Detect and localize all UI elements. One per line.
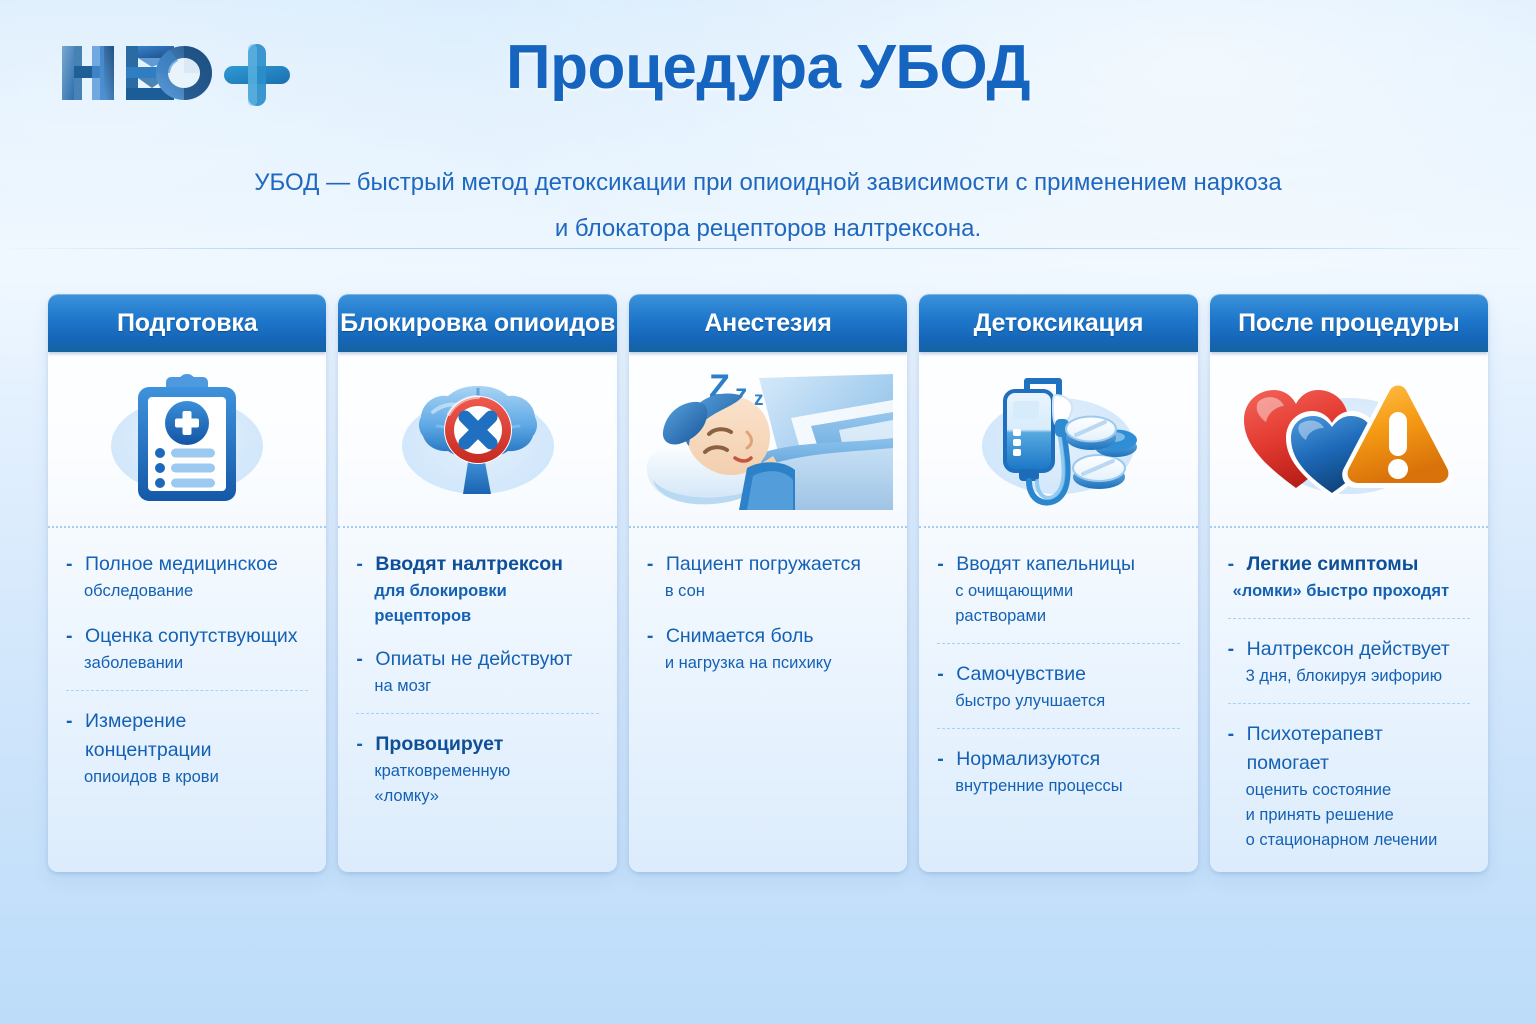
bullet-main-text: Самочувствие <box>956 660 1179 689</box>
bullet-main-text: Нормализуются <box>956 745 1179 774</box>
stage-card-preparation[interactable]: Подготовка <box>48 294 326 872</box>
bullet-item: - Нормализуются внутренние процессы <box>937 745 1179 799</box>
bullet-item: - Пациент погружается в сон <box>647 550 889 604</box>
bullet-dash: - <box>937 745 944 774</box>
card-divider-detoxification <box>919 526 1197 528</box>
card-divider-after-procedure <box>1210 526 1488 528</box>
card-title-anesthesia: Анестезия <box>704 309 831 338</box>
bullet-dash: - <box>66 550 73 579</box>
page-title: Процедура УБОД <box>0 32 1536 103</box>
poster-header: Процедура УБОД УБОД — быстрый метод дето… <box>0 0 1536 262</box>
card-title-after-procedure: После процедуры <box>1238 309 1460 338</box>
stage-card-opioid-blocking[interactable]: Блокировка опиоидов <box>338 294 616 872</box>
card-divider-opioid-blocking <box>338 526 616 528</box>
bullet-dash: - <box>937 660 944 689</box>
card-title-detoxification: Детоксикация <box>974 309 1144 338</box>
stage-card-after-procedure[interactable]: После процедуры <box>1210 294 1488 872</box>
bullet-sub-text: для блокировки рецепторов <box>374 579 598 629</box>
bullet-item: - Вводят капельницы с очищающими раствор… <box>937 550 1179 629</box>
bullet-group: - Вводят налтрексон для блокировки рецеп… <box>356 550 598 699</box>
bullet-item: - Измерение концентрации опиоидов в кров… <box>66 707 308 790</box>
card-header-preparation: Подготовка <box>48 294 326 352</box>
bullet-main-text: Оценка сопутствующих <box>85 622 308 651</box>
bullet-dash: - <box>1228 550 1235 579</box>
brain-blocked-icon <box>403 374 553 504</box>
bullet-dash: - <box>647 550 654 579</box>
card-icon-opioid-blocking <box>338 352 616 526</box>
card-header-detoxification: Детоксикация <box>919 294 1197 352</box>
card-title-preparation: Подготовка <box>117 309 257 338</box>
card-icon-detoxification <box>919 352 1197 526</box>
bullet-item: - Налтрексон действует 3 дня, блокируя э… <box>1228 635 1470 689</box>
card-body-preparation: - Полное медицинское обследование - Оцен… <box>48 528 326 872</box>
bullet-sub-text: «ломки» быстро проходят <box>1233 579 1470 604</box>
bullet-dash: - <box>66 622 73 651</box>
bullet-group: - Вводят капельницы с очищающими раствор… <box>937 550 1179 629</box>
bullet-group: - Психотерапевт помогает оценить состоян… <box>1228 703 1470 853</box>
clipboard-medical-checklist-icon <box>128 373 246 505</box>
infographic-poster: Процедура УБОД УБОД — быстрый метод дето… <box>0 0 1536 1024</box>
bullet-main-text: Провоцирует <box>375 730 598 759</box>
card-icon-anesthesia: Z z z <box>629 352 907 526</box>
bullet-group: - Измерение концентрации опиоидов в кров… <box>66 690 308 790</box>
subtitle-line-2: и блокатора рецепторов налтрексона. <box>143 206 1393 252</box>
bullet-item: - Вводят налтрексон для блокировки рецеп… <box>356 550 598 629</box>
iv-drip-pills-icon <box>979 369 1137 509</box>
card-title-opioid-blocking: Блокировка опиоидов <box>340 309 615 338</box>
card-body-detoxification: - Вводят капельницы с очищающими раствор… <box>919 528 1197 872</box>
bullet-group: - Нормализуются внутренние процессы <box>937 728 1179 799</box>
bullet-sub-text: опиоидов в крови <box>84 765 308 790</box>
bullet-sub-text: и нагрузка на психику <box>665 651 889 676</box>
card-header-after-procedure: После процедуры <box>1210 294 1488 352</box>
bullet-sub-text: оценить состояние и принять решение о ст… <box>1246 778 1470 853</box>
bullet-sub-text: кратковременную «ломку» <box>374 759 598 809</box>
sleeping-patient-zzz-icon: Z z z <box>643 360 893 518</box>
card-body-after-procedure: - Легкие симптомы «ломки» быстро проходя… <box>1210 528 1488 872</box>
bullet-item: - Самочувствие быстро улучшается <box>937 660 1179 714</box>
bullet-dash: - <box>1228 635 1235 664</box>
bullet-main-text: Полное медицинское <box>85 550 308 579</box>
bullet-group: - Налтрексон действует 3 дня, блокируя э… <box>1228 618 1470 689</box>
bullet-group: - Пациент погружается в сон - Снимается … <box>647 550 889 676</box>
bullet-item: - Полное медицинское обследование <box>66 550 308 604</box>
bullet-dash: - <box>66 707 73 736</box>
bullet-item: - Оценка сопутствующих заболевании <box>66 622 308 676</box>
bullet-item: - Легкие симптомы «ломки» быстро проходя… <box>1228 550 1470 604</box>
card-divider-anesthesia <box>629 526 907 528</box>
bullet-dash: - <box>356 730 363 759</box>
bullet-sub-text: с очищающими растворами <box>955 579 1179 629</box>
bullet-main-text: Вводят капельницы <box>956 550 1179 579</box>
bullet-dash: - <box>1228 720 1235 749</box>
bullet-dash: - <box>647 622 654 651</box>
bullet-sub-text: внутренние процессы <box>955 774 1179 799</box>
bullet-main-text: Измерение концентрации <box>85 707 308 765</box>
card-body-opioid-blocking: - Вводят налтрексон для блокировки рецеп… <box>338 528 616 872</box>
bullet-main-text: Психотерапевт помогает <box>1247 720 1470 778</box>
subtitle-line-1: УБОД — быстрый метод детоксикации при оп… <box>143 160 1393 206</box>
bullet-dash: - <box>356 645 363 674</box>
bullet-sub-text: заболевании <box>84 651 308 676</box>
bullet-main-text: Вводят налтрексон <box>375 550 598 579</box>
card-header-anesthesia: Анестезия <box>629 294 907 352</box>
card-divider-preparation <box>48 526 326 528</box>
card-icon-preparation <box>48 352 326 526</box>
bullet-dash: - <box>937 550 944 579</box>
bullet-main-text: Налтрексон действует <box>1247 635 1470 664</box>
bullet-item: - Снимается боль и нагрузка на психику <box>647 622 889 676</box>
bullet-sub-text: в сон <box>665 579 889 604</box>
header-divider <box>0 248 1536 249</box>
bullet-dash: - <box>356 550 363 579</box>
bullet-group: - Полное медицинское обследование - Оцен… <box>66 550 308 676</box>
card-header-opioid-blocking: Блокировка опиоидов <box>338 294 616 352</box>
bullet-sub-text: на мозг <box>374 674 598 699</box>
hearts-warning-icon <box>1238 376 1460 502</box>
bullet-sub-text: быстро улучшается <box>955 689 1179 714</box>
bullet-item: - Провоцирует кратковременную «ломку» <box>356 730 598 809</box>
bullet-sub-text: обследование <box>84 579 308 604</box>
stages-card-row: Подготовка <box>48 294 1488 872</box>
bullet-main-text: Легкие симптомы <box>1247 550 1470 579</box>
card-icon-after-procedure <box>1210 352 1488 526</box>
bullet-group: - Легкие симптомы «ломки» быстро проходя… <box>1228 550 1470 604</box>
stage-card-anesthesia[interactable]: Анестезия <box>629 294 907 872</box>
bullet-item: - Опиаты не действуют на мозг <box>356 645 598 699</box>
bullet-group: - Самочувствие быстро улучшается <box>937 643 1179 714</box>
bullet-main-text: Опиаты не действуют <box>375 645 598 674</box>
bullet-sub-text: 3 дня, блокируя эифорию <box>1246 664 1470 689</box>
bullet-group: - Провоцирует кратковременную «ломку» <box>356 713 598 809</box>
bullet-main-text: Снимается боль <box>666 622 889 651</box>
bullet-item: - Психотерапевт помогает оценить состоян… <box>1228 720 1470 853</box>
bullet-main-text: Пациент погружается <box>666 550 889 579</box>
card-body-anesthesia: - Пациент погружается в сон - Снимается … <box>629 528 907 872</box>
stage-card-detoxification[interactable]: Детоксикация <box>919 294 1197 872</box>
poster-subtitle: УБОД — быстрый метод детоксикации при оп… <box>143 160 1393 252</box>
